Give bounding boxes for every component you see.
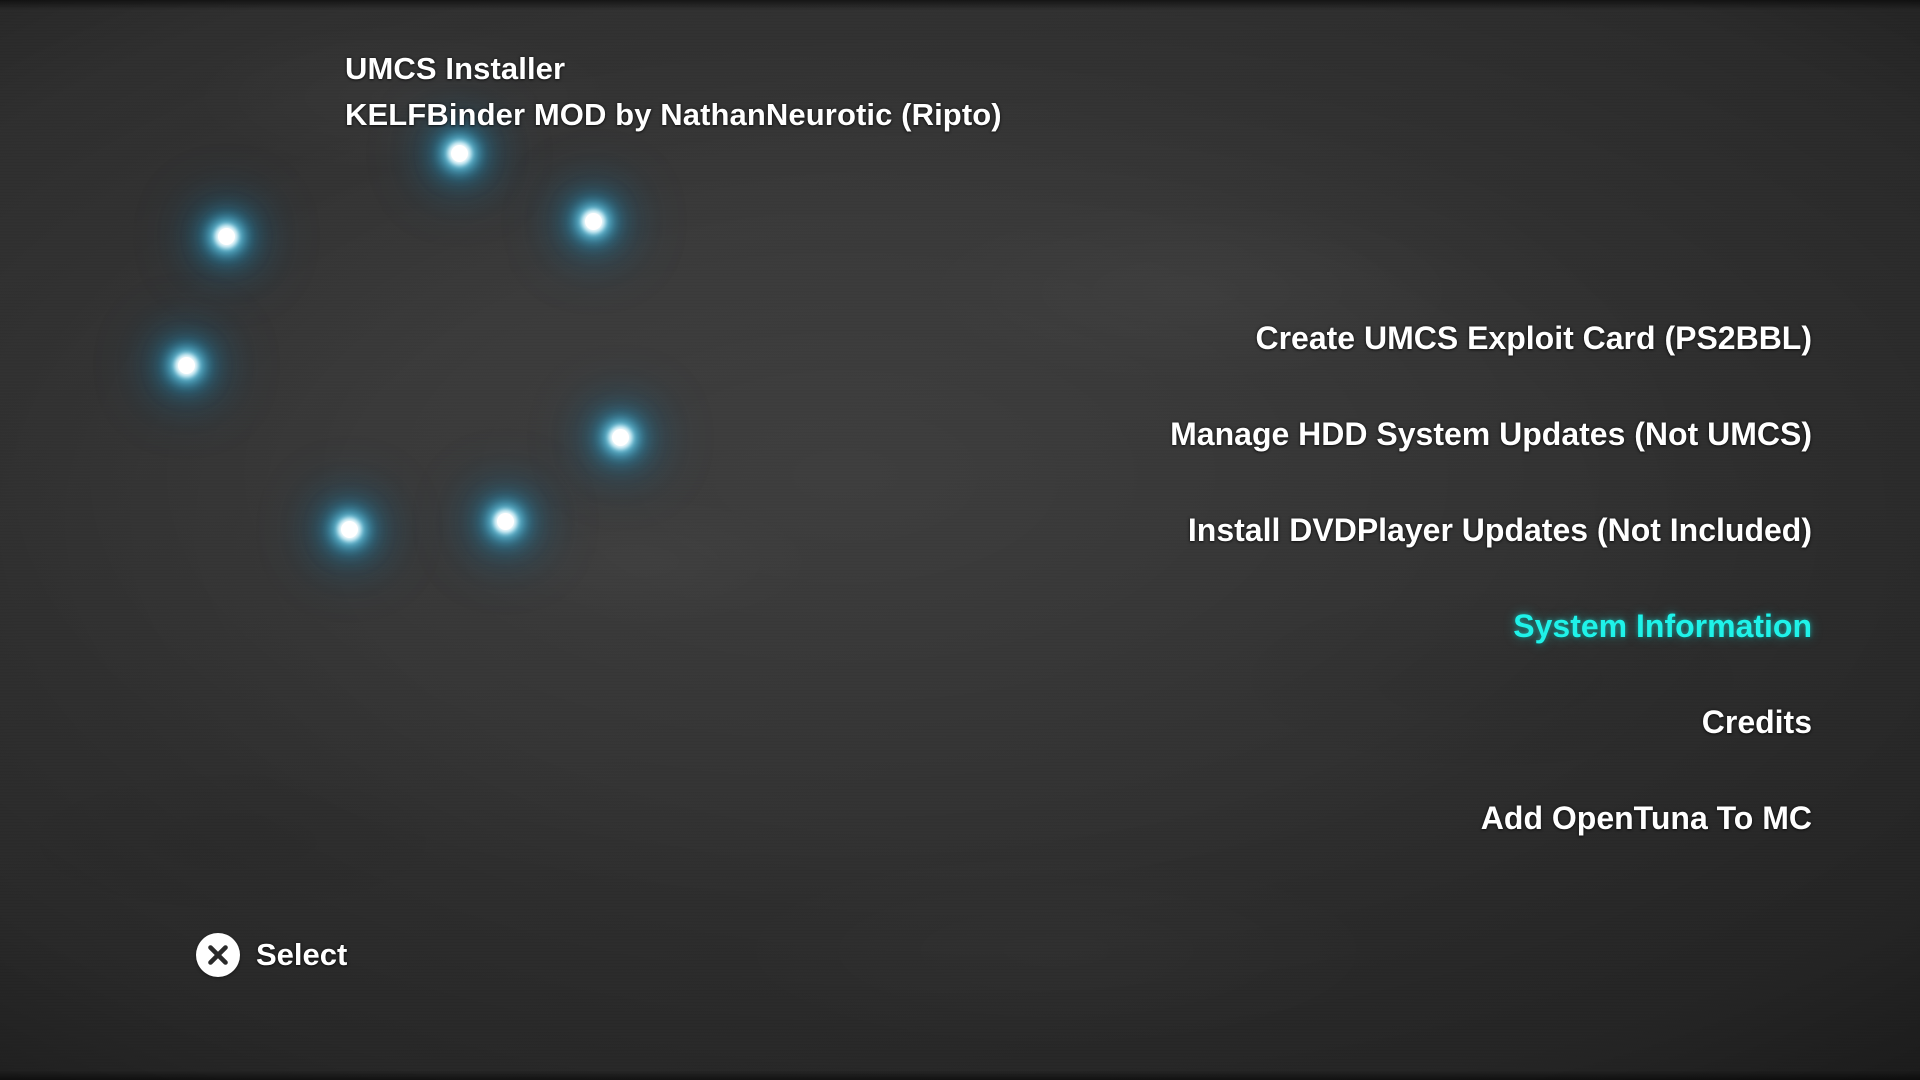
menu-item-5[interactable]: Add OpenTuna To MC — [0, 798, 1812, 838]
main-menu: Create UMCS Exploit Card (PS2BBL)Manage … — [0, 318, 1812, 894]
app-title: UMCS Installer — [345, 46, 1002, 92]
menu-item-3[interactable]: System Information — [0, 606, 1812, 646]
cross-button-icon — [196, 933, 240, 977]
menu-item-4[interactable]: Credits — [0, 702, 1812, 742]
app-subtitle: KELFBinder MOD by NathanNeurotic (Ripto) — [345, 92, 1002, 138]
menu-item-1[interactable]: Manage HDD System Updates (Not UMCS) — [0, 414, 1812, 454]
footer-action-label: Select — [256, 933, 347, 977]
glow-dot-3 — [585, 213, 602, 230]
glow-dot-1 — [451, 145, 468, 162]
ps2-installer-screen: UMCS Installer KELFBinder MOD by NathanN… — [0, 0, 1920, 1080]
screen-edge-top — [0, 0, 1920, 10]
title-block: UMCS Installer KELFBinder MOD by NathanN… — [345, 46, 1002, 138]
glow-dot-2 — [218, 228, 235, 245]
footer-prompt: Select — [196, 933, 347, 977]
menu-item-0[interactable]: Create UMCS Exploit Card (PS2BBL) — [0, 318, 1812, 358]
menu-item-2[interactable]: Install DVDPlayer Updates (Not Included) — [0, 510, 1812, 550]
screen-edge-bottom — [0, 1070, 1920, 1080]
